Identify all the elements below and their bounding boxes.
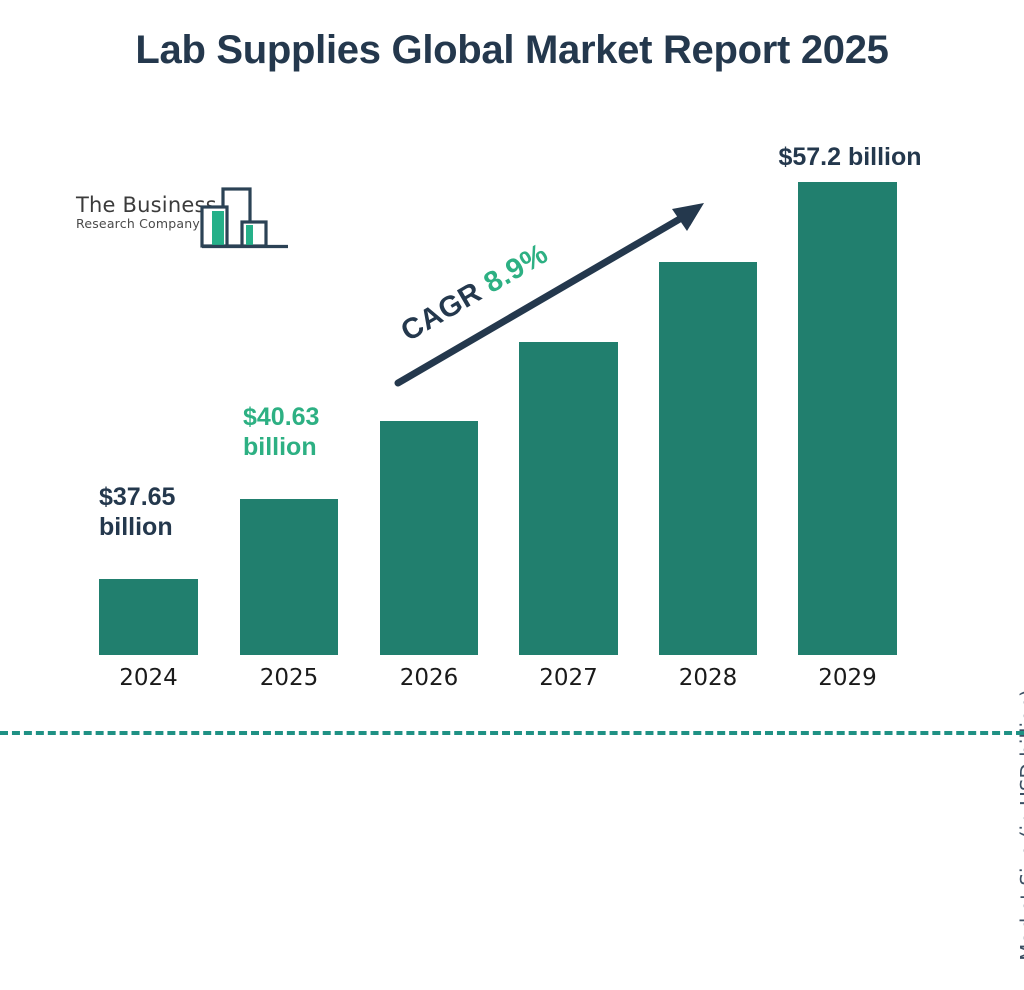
x-tick-2028: 2028 bbox=[659, 665, 757, 691]
bar-2027 bbox=[519, 342, 618, 655]
cagr-value: 8.9% bbox=[479, 238, 554, 300]
value-label-2029: $57.2 billion bbox=[720, 142, 980, 172]
y-axis-label: Market Size (in USD billion) bbox=[1016, 660, 1024, 990]
cagr-prefix: CAGR bbox=[396, 276, 488, 348]
x-tick-2024: 2024 bbox=[99, 665, 198, 691]
bar-2029 bbox=[798, 182, 897, 655]
x-tick-2029: 2029 bbox=[798, 665, 897, 691]
value-label-2025: $40.63 billion bbox=[243, 402, 373, 462]
x-tick-2025: 2025 bbox=[240, 665, 338, 691]
value-label-2024: $37.65 billion bbox=[99, 482, 229, 542]
bar-2028 bbox=[659, 262, 757, 655]
cagr-annotation: CAGR 8.9% bbox=[396, 238, 554, 349]
x-tick-2027: 2027 bbox=[519, 665, 618, 691]
bar-2025 bbox=[240, 499, 338, 655]
bar-2026 bbox=[380, 421, 478, 655]
x-tick-2026: 2026 bbox=[380, 665, 478, 691]
footer-divider bbox=[0, 731, 1024, 735]
bar-chart: $37.65 billion $40.63 billion $57.2 bill… bbox=[0, 0, 1024, 768]
bar-2024 bbox=[99, 579, 198, 655]
